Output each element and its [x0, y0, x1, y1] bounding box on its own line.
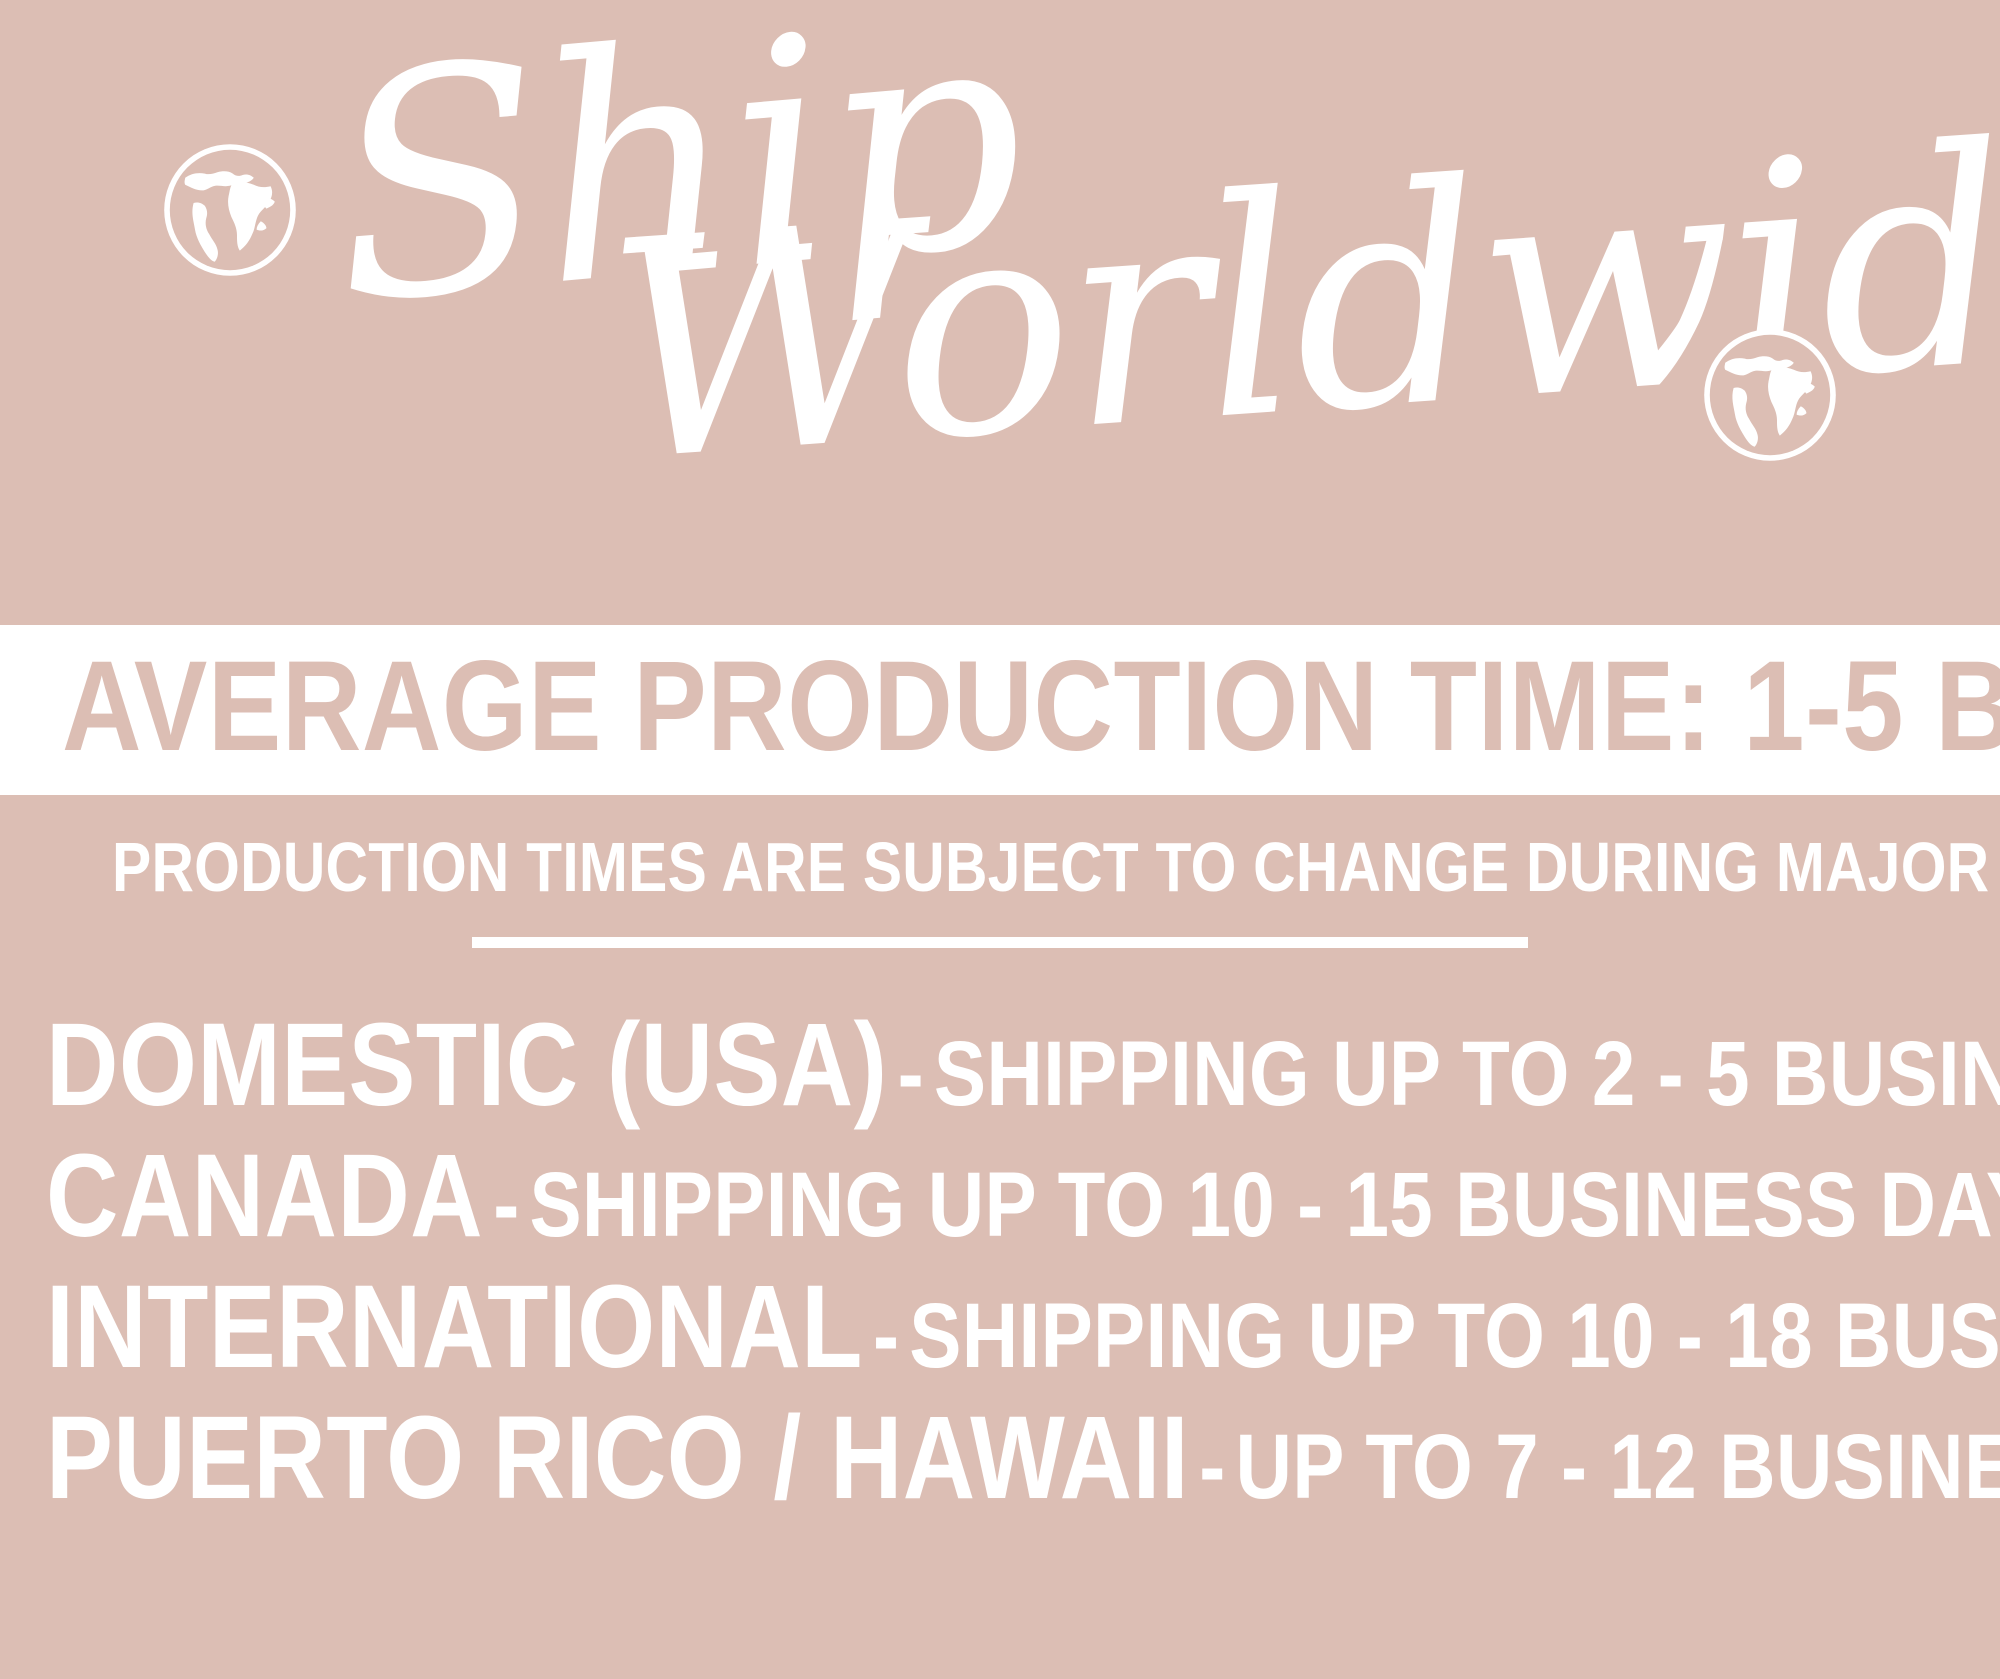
list-item: CANADA-SHIPPING UP TO 10 - 15 BUSINESS D…	[0, 1131, 2000, 1262]
shipping-info-graphic: Ship Worldwide AVERAGE PRODUCTION TIME: …	[0, 0, 2000, 1679]
shipping-destination: PUERTO RICO / HAWAII	[46, 1392, 1189, 1524]
shipping-detail: SHIPPING UP TO 10 - 18 BUSINESS DAYS	[909, 1285, 2000, 1387]
shipping-separator: -	[887, 1023, 933, 1125]
shipping-separator: -	[863, 1285, 909, 1387]
list-item: INTERNATIONAL-SHIPPING UP TO 10 - 18 BUS…	[0, 1262, 2000, 1393]
globe-icon	[1700, 325, 1840, 465]
shipping-destination: INTERNATIONAL	[46, 1261, 863, 1393]
divider	[472, 937, 1528, 948]
holiday-notice-text: PRODUCTION TIMES ARE SUBJECT TO CHANGE D…	[112, 832, 2000, 902]
shipping-destination: CANADA	[46, 1130, 483, 1262]
production-time-band: AVERAGE PRODUCTION TIME: 1-5 BUSINESS DA…	[0, 625, 2000, 795]
shipping-separator: -	[483, 1154, 529, 1256]
shipping-detail: UP TO 7 - 12 BUSINESS DAYS	[1235, 1416, 2000, 1518]
production-time-heading: AVERAGE PRODUCTION TIME: 1-5 BUSINESS DA…	[62, 643, 2000, 771]
shipping-detail: SHIPPING UP TO 10 - 15 BUSINESS DAYS	[529, 1154, 2000, 1256]
list-item: DOMESTIC (USA)-SHIPPING UP TO 2 - 5 BUSI…	[0, 1000, 2000, 1131]
shipping-destination: DOMESTIC (USA)	[46, 999, 887, 1131]
shipping-separator: -	[1189, 1416, 1235, 1518]
shipping-times-list: DOMESTIC (USA)-SHIPPING UP TO 2 - 5 BUSI…	[0, 1000, 2000, 1524]
globe-icon	[160, 140, 300, 280]
list-item: PUERTO RICO / HAWAII-UP TO 7 - 12 BUSINE…	[0, 1393, 2000, 1524]
header-banner: Ship Worldwide	[0, 0, 2000, 625]
shipping-detail: SHIPPING UP TO 2 - 5 BUSINESS DAYS	[934, 1023, 2000, 1125]
